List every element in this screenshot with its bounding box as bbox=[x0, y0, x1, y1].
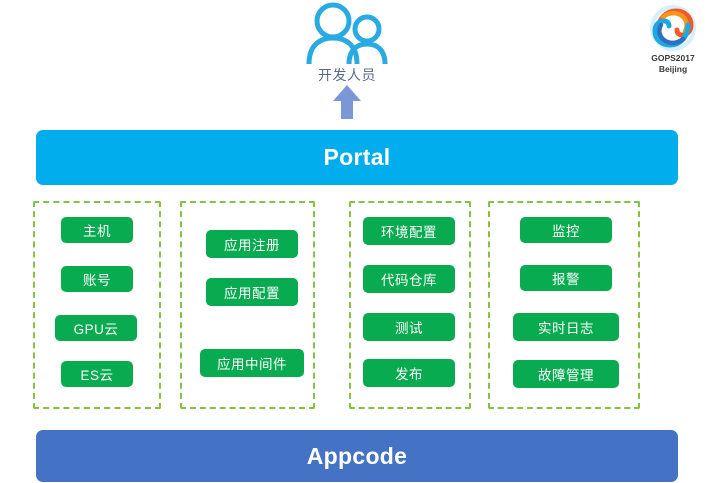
resource-group: 主机账号GPU云ES云 bbox=[33, 201, 161, 409]
up-arrow-icon bbox=[332, 85, 362, 119]
developer-actor: 开发人员 bbox=[272, 2, 422, 120]
logo-text: GOPS2017 Beijing bbox=[651, 53, 694, 74]
capability-chip[interactable]: ES云 bbox=[61, 361, 133, 387]
developer-label: 开发人员 bbox=[318, 66, 376, 84]
capability-chip[interactable]: 监控 bbox=[520, 217, 612, 243]
pipeline-group: 环境配置代码仓库测试发布 bbox=[349, 201, 471, 409]
appcode-bar[interactable]: Appcode bbox=[36, 430, 678, 482]
capability-chip[interactable]: 主机 bbox=[61, 217, 133, 243]
appcode-label: Appcode bbox=[307, 443, 408, 470]
capability-chip[interactable]: 环境配置 bbox=[363, 217, 455, 245]
capability-chip[interactable]: 代码仓库 bbox=[363, 265, 455, 293]
people-icon bbox=[299, 2, 395, 64]
gops-logo: GOPS2017 Beijing bbox=[639, 4, 707, 82]
capability-chip[interactable]: 应用中间件 bbox=[200, 349, 304, 377]
portal-bar[interactable]: Portal bbox=[36, 130, 678, 185]
capability-chip[interactable]: 报警 bbox=[520, 265, 612, 291]
gops-swirl-logo-icon bbox=[649, 4, 697, 52]
application-group: 应用注册应用配置应用中间件 bbox=[180, 201, 315, 409]
capability-chip[interactable]: 测试 bbox=[363, 313, 455, 341]
operations-group: 监控报警实时日志故障管理 bbox=[488, 201, 640, 409]
capability-chip[interactable]: 发布 bbox=[363, 359, 455, 387]
capability-chip[interactable]: 应用配置 bbox=[206, 278, 298, 306]
logo-line-1: GOPS2017 bbox=[651, 53, 694, 64]
capability-chip[interactable]: 故障管理 bbox=[513, 360, 619, 388]
logo-line-2: Beijing bbox=[651, 64, 694, 75]
capability-chip[interactable]: 实时日志 bbox=[513, 313, 619, 341]
capability-chip[interactable]: 账号 bbox=[61, 266, 133, 292]
capability-chip[interactable]: 应用注册 bbox=[206, 230, 298, 258]
capability-chip[interactable]: GPU云 bbox=[55, 315, 137, 341]
portal-label: Portal bbox=[324, 144, 391, 171]
